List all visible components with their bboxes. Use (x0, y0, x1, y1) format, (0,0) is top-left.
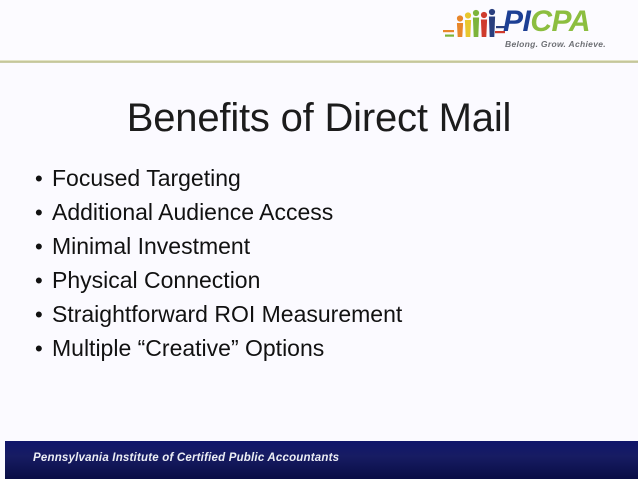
bullet-dot-icon: • (30, 232, 52, 262)
picpa-logo: PICPA Belong. Grow. Achieve. (443, 5, 628, 57)
wordmark-pi: PI (503, 5, 530, 38)
slide-footer: Pennsylvania Institute of Certified Publ… (5, 441, 638, 479)
slide-header: PICPA Belong. Grow. Achieve. (0, 0, 638, 61)
picpa-tagline: Belong. Grow. Achieve. (505, 39, 606, 49)
list-item: • Focused Targeting (30, 163, 590, 197)
list-item: • Additional Audience Access (30, 197, 590, 231)
list-item-label: Additional Audience Access (52, 197, 333, 227)
bullet-dot-icon: • (30, 198, 52, 228)
list-item-label: Straightforward ROI Measurement (52, 299, 402, 329)
list-item: • Minimal Investment (30, 231, 590, 265)
list-item: • Straightforward ROI Measurement (30, 299, 590, 333)
slide-canvas: PICPA Belong. Grow. Achieve. Benefits of… (0, 0, 638, 479)
header-divider-rule (0, 60, 638, 63)
wordmark-c: C (530, 5, 551, 38)
picpa-people-logo-icon (443, 7, 505, 42)
bullet-list: • Focused Targeting • Additional Audienc… (30, 163, 590, 367)
list-item: • Multiple “Creative” Options (30, 333, 590, 367)
bullet-dot-icon: • (30, 266, 52, 296)
list-item-label: Minimal Investment (52, 231, 250, 261)
picpa-wordmark: PICPA (503, 6, 590, 38)
list-item-label: Physical Connection (52, 265, 260, 295)
bullet-dot-icon: • (30, 334, 52, 364)
list-item-label: Multiple “Creative” Options (52, 333, 324, 363)
bullet-dot-icon: • (30, 164, 52, 194)
page-title: Benefits of Direct Mail (0, 95, 638, 141)
list-item-label: Focused Targeting (52, 163, 241, 193)
bullet-dot-icon: • (30, 300, 52, 330)
list-item: • Physical Connection (30, 265, 590, 299)
footer-organization-name: Pennsylvania Institute of Certified Publ… (33, 452, 339, 464)
wordmark-pa: PA (552, 5, 590, 38)
